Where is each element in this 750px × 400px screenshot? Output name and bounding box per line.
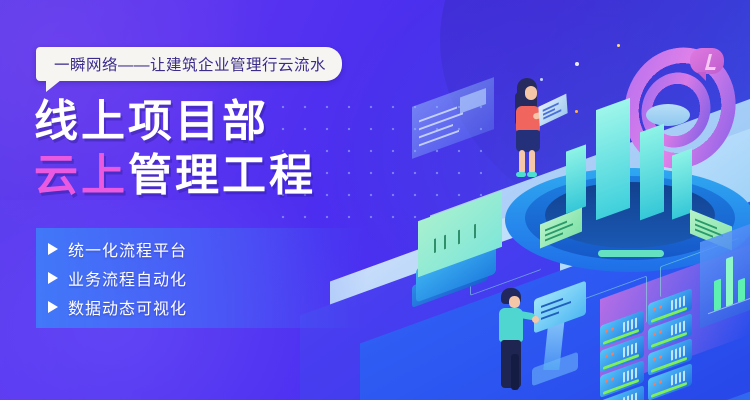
sparkle-dot [575,110,578,113]
headline-line-2: 云上管理工程 [34,154,316,198]
list-item-label: 统一化流程平台 [68,237,187,261]
sparkle-dot [617,44,620,47]
headline-rest: 管理工程 [128,151,316,200]
triangle-marker-icon [48,243,58,255]
feature-list: 统一化流程平台 业务流程自动化 数据动态可视化 [48,236,187,323]
headline-line-1: 线上项目部 [34,100,316,144]
sparkle-dot [596,132,599,135]
list-item-label: 业务流程自动化 [68,266,187,290]
sparkle-dot [540,78,543,81]
triangle-marker-icon [48,272,58,284]
tagline-banner: 一瞬网络——让建筑企业管理行云流水 [36,47,342,81]
list-item-label: 数据动态可视化 [68,295,187,319]
triangle-marker-icon [48,301,58,313]
tagline-tail [46,80,61,92]
list-item: 业务流程自动化 [48,265,187,290]
list-item: 统一化流程平台 [48,236,187,261]
sparkle-dot [700,218,703,221]
headline-highlight: 云上 [34,151,128,200]
sparkle-dot [575,62,579,66]
sparkle-dot [660,186,663,189]
tagline-text: 一瞬网络——让建筑企业管理行云流水 [54,53,326,75]
list-item: 数据动态可视化 [48,294,187,319]
sparkle-dot [628,228,632,232]
sparkle-dot [713,58,716,61]
promo-banner: 一瞬网络——让建筑企业管理行云流水 线上项目部 云上管理工程 统一化流程平台 业… [0,0,750,400]
headline-block: 线上项目部 云上管理工程 [34,100,316,198]
